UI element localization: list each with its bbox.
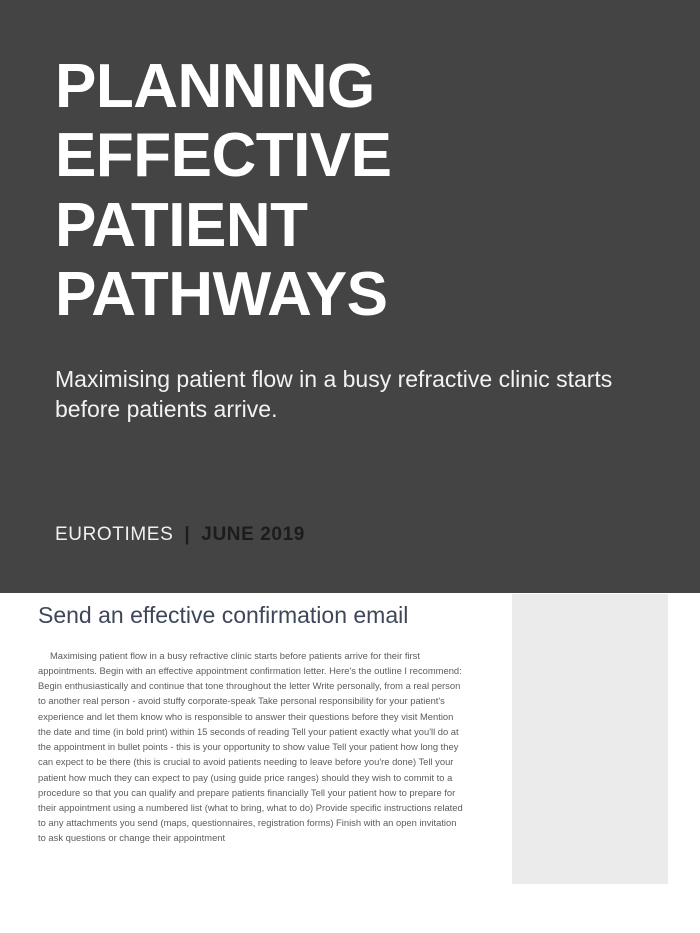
content-section: Send an effective confirmation email Max… xyxy=(0,593,700,933)
image-placeholder xyxy=(512,594,668,884)
page-title-line-2: EFFECTIVE xyxy=(55,121,475,190)
byline: EUROTIMES | JUNE 2019 xyxy=(55,524,305,546)
article-body-text: Maximising patient flow in a busy refrac… xyxy=(38,648,463,846)
byline-publication: EUROTIMES xyxy=(55,524,173,546)
article-heading: Send an effective confirmation email xyxy=(38,599,418,632)
article: Send an effective confirmation email Max… xyxy=(38,599,463,846)
page-title-line-1: PLANNING xyxy=(55,52,475,121)
hero-panel: PLANNING EFFECTIVE PATIENT PATHWAYS Maxi… xyxy=(0,0,700,593)
byline-issue-date: JUNE 2019 xyxy=(201,524,305,546)
page-title-line-3: PATIENT xyxy=(55,191,475,260)
page-title-line-4: PATHWAYS xyxy=(55,260,475,329)
page-subtitle: Maximising patient flow in a busy refrac… xyxy=(55,364,620,425)
page-title: PLANNING EFFECTIVE PATIENT PATHWAYS xyxy=(55,52,475,330)
byline-separator: | xyxy=(184,524,190,546)
